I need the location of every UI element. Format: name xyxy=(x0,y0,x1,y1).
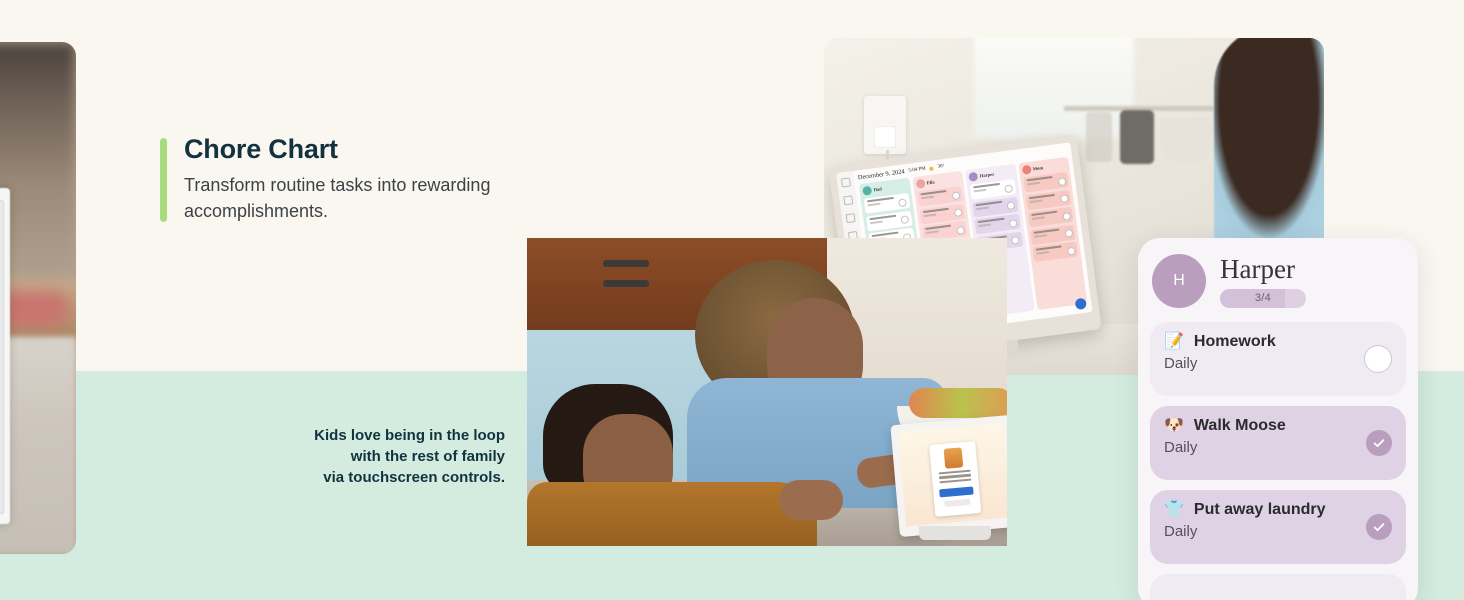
chore-title: Homework xyxy=(1194,333,1276,351)
chore-card xyxy=(864,193,910,214)
chore-title-row: 📝 Homework xyxy=(1164,333,1392,351)
pc-photo-fruit xyxy=(909,388,1007,418)
page-title: Chore Chart xyxy=(184,132,338,166)
chore-checkbox[interactable] xyxy=(1364,345,1392,373)
left-photo-display-device xyxy=(0,188,10,524)
chore-card xyxy=(917,186,963,207)
tr-photo-jar xyxy=(1086,112,1112,162)
caption-line-3: via touchscreen controls. xyxy=(224,467,505,488)
progress-badge: 3/4 xyxy=(1220,289,1306,308)
chore-column-name: Ella xyxy=(926,179,935,185)
accent-bar xyxy=(160,138,167,222)
chore-chart-temperature: 36° xyxy=(937,164,945,170)
tr-photo-outlet xyxy=(864,96,906,154)
left-photo-wall xyxy=(0,42,76,302)
progress-badge-label: 3/4 xyxy=(1255,292,1271,304)
pc-photo-device-stand xyxy=(919,526,991,540)
pc-photo-dialog-secondary-button xyxy=(944,499,970,507)
caption-line-2: with the rest of family xyxy=(224,446,505,467)
touchscreen-caption: Kids love being in the loop with the res… xyxy=(224,425,505,488)
avatar xyxy=(862,186,872,196)
pc-photo-cabinet-handle xyxy=(603,260,649,267)
harper-chore-list: 📝 Homework Daily 🐶 Walk Moose Daily 👕 xyxy=(1150,322,1406,600)
chore-chart-time: 5:04 PM xyxy=(908,166,926,173)
chore-title: Put away laundry xyxy=(1194,501,1326,519)
chore-card xyxy=(974,214,1020,235)
sidebar-calendar-icon xyxy=(841,177,851,187)
avatar: H xyxy=(1152,254,1206,308)
left-photo-food xyxy=(0,292,68,326)
list-item[interactable]: 📝 Homework Daily xyxy=(1150,322,1406,396)
feature-description: Transform routine tasks into rewarding a… xyxy=(184,172,524,224)
list-item[interactable]: 🐶 Walk Moose Daily xyxy=(1150,406,1406,480)
chore-title-row: 🐶 Walk Moose xyxy=(1164,417,1392,435)
left-photo-counter xyxy=(0,337,76,554)
chore-column-name: Harper xyxy=(979,172,994,179)
avatar xyxy=(1021,165,1031,175)
harper-card-header: H Harper 3/4 xyxy=(1152,254,1306,308)
check-icon xyxy=(1372,436,1386,450)
pc-photo-dialog-image xyxy=(944,447,964,468)
left-kitchen-photo xyxy=(0,42,76,554)
add-button[interactable] xyxy=(1075,298,1087,310)
chore-column-name: Mom xyxy=(1032,165,1043,171)
chore-title: Walk Moose xyxy=(1194,417,1286,435)
pc-photo-device-dialog xyxy=(929,441,981,517)
avatar xyxy=(968,172,978,182)
chore-checkbox[interactable] xyxy=(1366,430,1392,456)
avatar xyxy=(915,179,925,189)
sidebar-rewards-icon xyxy=(846,213,856,223)
list-item[interactable] xyxy=(1150,574,1406,600)
caption-line-1: Kids love being in the loop xyxy=(224,425,505,446)
family-kitchen-photo xyxy=(527,238,1007,546)
chore-frequency: Daily xyxy=(1164,355,1392,372)
chore-title-row: 👕 Put away laundry xyxy=(1164,501,1392,519)
chore-card xyxy=(1027,207,1073,228)
chore-checkbox[interactable] xyxy=(1366,514,1392,540)
pc-photo-hand xyxy=(779,480,843,520)
harper-chore-card: H Harper 3/4 📝 Homework Daily xyxy=(1138,238,1418,600)
memo-icon: 📝 xyxy=(1164,334,1184,350)
sun-icon xyxy=(929,166,933,170)
sidebar-chores-icon xyxy=(843,195,853,205)
chore-frequency: Daily xyxy=(1164,523,1392,540)
chore-card xyxy=(970,179,1016,200)
pc-photo-touchscreen-device xyxy=(890,415,1007,537)
chore-card xyxy=(1032,241,1078,262)
list-item[interactable]: 👕 Put away laundry Daily xyxy=(1150,490,1406,564)
chore-frequency: Daily xyxy=(1164,439,1392,456)
pc-photo-dialog-primary-button xyxy=(939,487,974,498)
chore-card xyxy=(1023,172,1069,193)
dog-face-icon: 🐶 xyxy=(1164,418,1184,434)
pc-photo-cabinet-handle xyxy=(603,280,649,287)
pc-photo-device-screen xyxy=(898,423,1007,527)
promo-banner: Chore Chart Transform routine tasks into… xyxy=(0,0,1464,600)
harper-identity: Harper 3/4 xyxy=(1220,255,1306,308)
check-icon xyxy=(1372,520,1386,534)
progress-badge-fill xyxy=(1220,289,1285,308)
chore-column-name: Dad xyxy=(873,186,882,192)
left-photo-device-bezel xyxy=(0,200,4,514)
t-shirt-icon: 👕 xyxy=(1164,502,1184,518)
tr-photo-kettle xyxy=(1120,110,1154,164)
harper-name: Harper xyxy=(1220,255,1306,283)
pc-photo-boy-arm xyxy=(527,482,817,546)
